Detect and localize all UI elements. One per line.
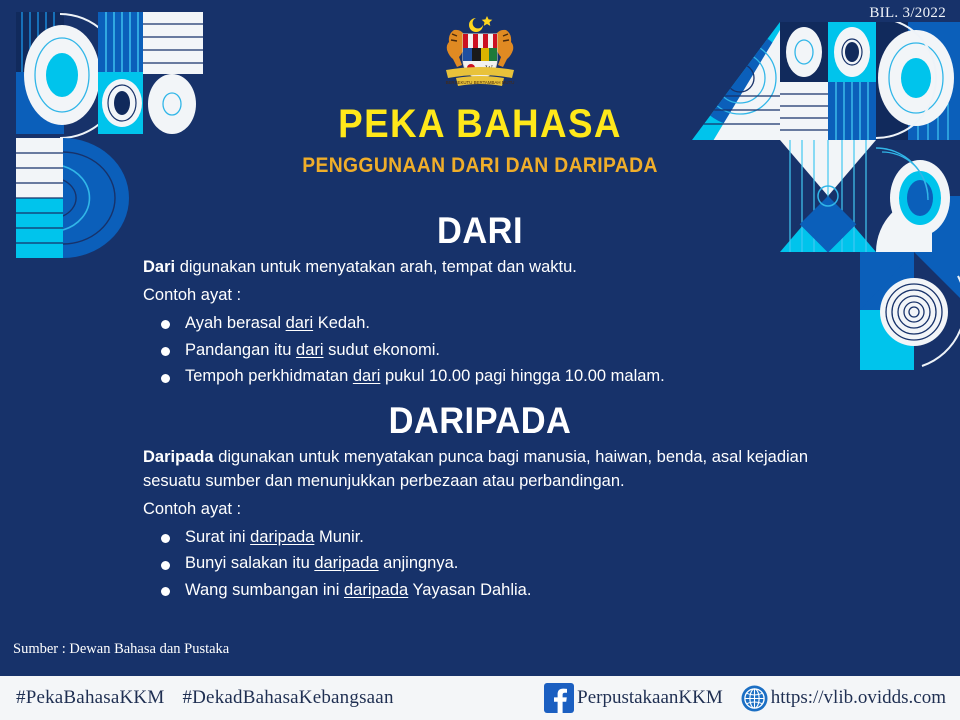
list-item: Pandangan itu dari sudut ekonomi.	[143, 337, 843, 364]
section-body-dari: Dari digunakan untuk menyatakan arah, te…	[143, 256, 843, 390]
example-keyword: dari	[353, 367, 381, 385]
definition-dari: Dari digunakan untuk menyatakan arah, te…	[143, 256, 843, 280]
issue-number: BIL. 3/2022	[869, 5, 946, 22]
definition-keyword: Dari	[143, 258, 175, 276]
definition-keyword: Daripada	[143, 448, 214, 466]
example-text-pre: Bunyi salakan itu	[185, 554, 314, 572]
example-keyword: daripada	[250, 528, 314, 546]
hashtag-peka-bahasa: #PekaBahasaKKM	[16, 687, 164, 709]
example-text-post: pukul 10.00 pagi hingga 10.00 malam.	[380, 367, 664, 385]
website-label: https://vlib.ovidds.com	[771, 687, 946, 709]
list-item: Tempoh perkhidmatan dari pukul 10.00 pag…	[143, 363, 843, 390]
list-item: Wang sumbangan ini daripada Yayasan Dahl…	[143, 577, 863, 604]
source-credit: Sumber : Dewan Bahasa dan Pustaka	[13, 641, 229, 658]
page-subtitle: PENGGUNAAN DARI DAN DARIPADA	[38, 154, 921, 178]
bullet-icon	[161, 347, 170, 356]
page-title: PEKA BAHASA	[38, 104, 921, 144]
bullet-icon	[161, 320, 170, 329]
bullet-icon	[161, 374, 170, 383]
example-text-pre: Tempoh perkhidmatan	[185, 367, 353, 385]
example-text-pre: Ayah berasal	[185, 314, 286, 332]
svg-text:BERSEKUTU BERTAMBAH MUTU: BERSEKUTU BERTAMBAH MUTU	[446, 80, 515, 85]
bullet-icon	[161, 534, 170, 543]
example-keyword: daripada	[314, 554, 378, 572]
example-text-post: Yayasan Dahlia.	[408, 581, 531, 599]
example-text-post: anjingnya.	[379, 554, 459, 572]
facebook-link[interactable]: PerpustakaanKKM	[544, 683, 723, 713]
example-keyword: dari	[286, 314, 314, 332]
example-text-post: Kedah.	[313, 314, 370, 332]
globe-icon	[741, 685, 768, 712]
example-text-pre: Surat ini	[185, 528, 250, 546]
examples-list-daripada: Surat ini daripada Munir. Bunyi salakan …	[143, 524, 863, 604]
poster-canvas: BIL. 3/2022	[0, 0, 960, 720]
section-body-daripada: Daripada digunakan untuk menyatakan punc…	[143, 446, 863, 604]
examples-list-dari: Ayah berasal dari Kedah. Pandangan itu d…	[143, 310, 843, 390]
footer-bar: #PekaBahasaKKM #DekadBahasaKebangsaan Pe…	[0, 674, 960, 720]
section-heading-daripada: DARIPADA	[34, 400, 927, 442]
website-link[interactable]: https://vlib.ovidds.com	[741, 685, 946, 712]
example-text-post: Munir.	[314, 528, 364, 546]
example-text-post: sudut ekonomi.	[324, 341, 440, 359]
list-item: Bunyi salakan itu daripada anjingnya.	[143, 550, 863, 577]
facebook-icon	[544, 683, 574, 713]
bullet-icon	[161, 587, 170, 596]
definition-text: digunakan untuk menyatakan arah, tempat …	[175, 258, 577, 276]
definition-text: digunakan untuk menyatakan punca bagi ma…	[143, 448, 808, 490]
example-text-pre: Pandangan itu	[185, 341, 296, 359]
example-text-pre: Wang sumbangan ini	[185, 581, 344, 599]
example-keyword: daripada	[344, 581, 408, 599]
bullet-icon	[161, 561, 170, 570]
examples-label-daripada: Contoh ayat :	[143, 498, 863, 522]
title-block: PEKA BAHASA PENGGUNAAN DARI DAN DARIPADA	[0, 104, 960, 178]
list-item: Ayah berasal dari Kedah.	[143, 310, 843, 337]
examples-label-dari: Contoh ayat :	[143, 284, 843, 308]
definition-daripada: Daripada digunakan untuk menyatakan punc…	[143, 446, 863, 494]
section-heading-dari: DARI	[34, 210, 927, 252]
example-keyword: dari	[296, 341, 324, 359]
list-item: Surat ini daripada Munir.	[143, 524, 863, 551]
facebook-label: PerpustakaanKKM	[577, 687, 723, 709]
hashtag-dekad-bahasa: #DekadBahasaKebangsaan	[182, 687, 393, 709]
malaysia-coat-of-arms-emblem: W BERSEKUTU BERTAMBAH MUTU	[432, 8, 528, 96]
